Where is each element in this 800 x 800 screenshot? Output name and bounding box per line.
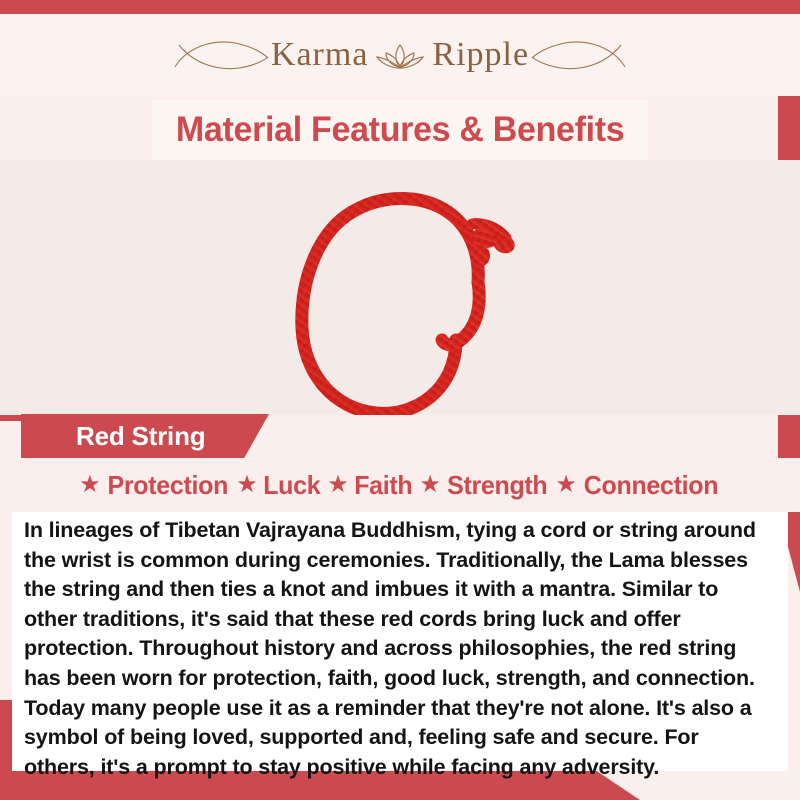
star-icon: ★	[419, 473, 441, 497]
brand-logo: Karma Ripple	[173, 33, 627, 77]
star-icon: ★	[327, 473, 349, 497]
brand-logo-zone: Karma Ripple	[0, 14, 800, 96]
product-infographic: Karma Ripple Material Features & Benefit…	[0, 0, 800, 800]
benefit-item-connection: ★ Connection	[555, 470, 721, 501]
benefit-item-luck: ★ Luck	[236, 470, 321, 501]
product-name-label: Red String	[76, 421, 205, 452]
bracelet-knot	[469, 220, 518, 268]
brand-name-left: Karma	[271, 38, 369, 72]
star-icon: ★	[555, 473, 577, 497]
product-name-banner: Red String	[21, 414, 269, 458]
benefits-list: ★ Protection ★ Luck ★ Faith ★ Strength ★…	[0, 458, 800, 512]
star-icon: ★	[79, 473, 101, 497]
lotus-flower-icon	[370, 35, 430, 75]
benefit-label: Luck	[263, 470, 320, 501]
top-accent-bar	[0, 0, 800, 14]
benefit-label: Protection	[107, 470, 228, 501]
benefit-label: Connection	[584, 470, 718, 501]
description-block: In lineages of Tibetan Vajrayana Buddhis…	[12, 512, 788, 771]
brand-name-right: Ripple	[432, 38, 529, 72]
right-flourish-icon	[531, 33, 627, 77]
benefit-label: Strength	[447, 470, 547, 501]
red-string-bracelet-image	[246, 160, 566, 415]
benefit-item-protection: ★ Protection	[79, 470, 230, 501]
product-image-area	[0, 160, 800, 415]
benefit-label: Faith	[354, 470, 412, 501]
left-flourish-icon	[173, 33, 269, 77]
description-text: In lineages of Tibetan Vajrayana Buddhis…	[24, 516, 774, 782]
page-title: Material Features & Benefits	[176, 110, 624, 150]
benefit-item-strength: ★ Strength	[419, 470, 549, 501]
star-icon: ★	[236, 473, 258, 497]
section-title-band: Material Features & Benefits	[152, 100, 648, 160]
benefit-item-faith: ★ Faith	[327, 470, 413, 501]
